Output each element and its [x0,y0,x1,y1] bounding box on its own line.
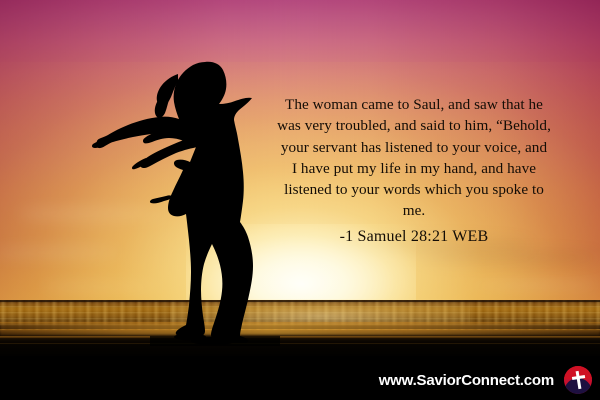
website-url[interactable]: www.SaviorConnect.com [379,372,554,389]
footer-bar: www.SaviorConnect.com [0,356,600,400]
verse-line: listened to your words which you spoke t… [258,179,570,200]
verse-line: The woman came to Saul, and saw that he [258,94,570,115]
verse-reference: -1 Samuel 28:21 WEB [258,226,570,247]
pier-highlight [0,323,600,335]
verse-image: The woman came to Saul, and saw that he … [0,0,600,400]
verse-line: was very troubled, and said to him, “Beh… [258,115,570,136]
verse-text: The woman came to Saul, and saw that he … [258,94,570,247]
verse-line: your servant has listened to your voice,… [258,137,570,158]
verse-line: me. [258,200,570,221]
saviorconnect-cross-logo[interactable] [564,366,592,394]
horizon-line [0,300,600,302]
verse-line: I have put my life in my hand, and have [258,158,570,179]
